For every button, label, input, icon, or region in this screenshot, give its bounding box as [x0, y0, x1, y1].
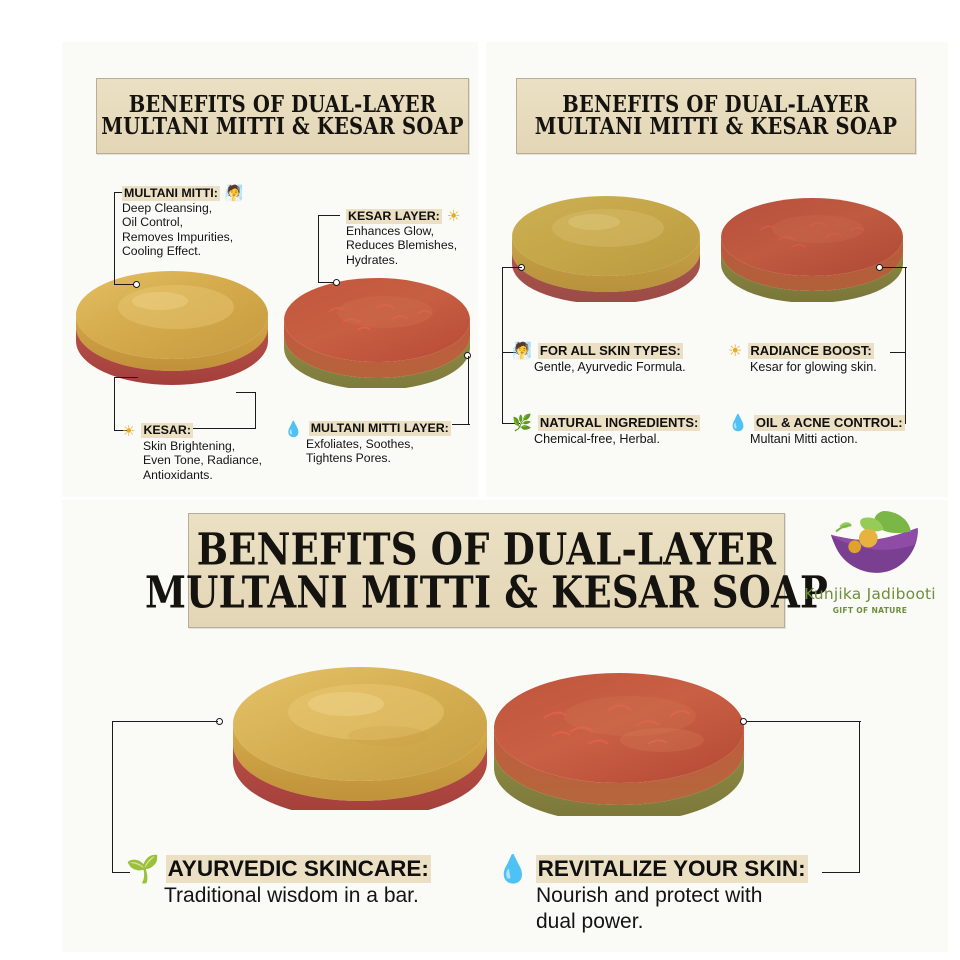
label-radiance-boost-body: Kesar for glowing skin. [750, 360, 928, 376]
label-revitalize-your-skin-body: Nourish and protect with dual power. [536, 883, 856, 935]
label-multani-mitti-heading: MULTANI MITTI: [122, 186, 220, 201]
label-ayurvedic-skincare-body: Traditional wisdom in a bar. [164, 883, 476, 909]
label-for-all-skin-types-heading: FOR ALL SKIN TYPES: [538, 343, 683, 359]
connector-multani-mitti-down [114, 219, 115, 285]
connector-dot-kesar-layer [333, 279, 340, 286]
label-multani-mitti: MULTANI MITTI: 🧖 Deep Cleansing, Oil Con… [122, 186, 312, 259]
connector-bottom-right-h [747, 721, 861, 722]
brand-name: Kunjika Jadibooti [790, 585, 950, 603]
water-droplets-icon: 💧 [496, 856, 530, 883]
connector-tr-left-h [502, 267, 522, 268]
sun-icon: ☀ [447, 209, 460, 224]
hand-sprout-icon: 🌱 [126, 856, 160, 883]
water-droplets-icon: 💧 [284, 422, 303, 437]
label-oil-acne-control-body: Multani Mitti action. [750, 432, 938, 448]
soap-top-right-red [718, 192, 906, 302]
label-radiance-boost-heading: RADIANCE BOOST: [748, 343, 873, 359]
connector-kesar-layer-h [318, 215, 340, 216]
label-kesar-heading: KESAR: [141, 423, 193, 438]
label-multani-mitti-layer-heading: MULTANI MITTI LAYER: [309, 421, 451, 436]
face-mask-icon: 🧖 [225, 186, 244, 201]
banner-tr-line-2: MULTANI MITTI & KESAR SOAP [535, 114, 897, 140]
label-ayurvedic-skincare: 🌱 AYURVEDIC SKINCARE: Traditional wisdom… [126, 855, 476, 909]
soap-top-left-red [281, 272, 473, 388]
connector-tr-right-h [883, 267, 907, 268]
herb-leaf-icon: 🌿 [512, 416, 532, 432]
connector-bottom-right-v [859, 721, 860, 873]
brand-tagline: GIFT OF NATURE [790, 606, 950, 615]
banner-top-left: BENEFITS OF DUAL-LAYER MULTANI MITTI & K… [96, 78, 469, 154]
bowl-with-leaves-logo [802, 505, 938, 585]
label-natural-ingredients: 🌿 NATURAL INGREDIENTS: Chemical-free, He… [512, 415, 722, 448]
soap-top-right-yellow [508, 190, 704, 302]
face-icon: 🧖 [512, 344, 532, 360]
brand-logo: Kunjika Jadibooti GIFT OF NATURE [790, 505, 950, 615]
label-multani-mitti-body: Deep Cleansing, Oil Control, Removes Imp… [122, 201, 312, 259]
soap-bottom-yellow [228, 658, 492, 810]
label-multani-mitti-layer: 💧 MULTANI MITTI LAYER: Exfoliates, Sooth… [284, 421, 484, 466]
sun-icon: ☀ [728, 344, 742, 360]
infographic-canvas: BENEFITS OF DUAL-LAYER MULTANI MITTI & K… [0, 0, 960, 960]
sun-icon: ☀ [122, 424, 135, 439]
label-for-all-skin-types: 🧖 FOR ALL SKIN TYPES: Gentle, Ayurvedic … [512, 343, 712, 376]
connector-multani-mitti-v [114, 192, 115, 219]
banner-top-right: BENEFITS OF DUAL-LAYER MULTANI MITTI & K… [516, 78, 916, 154]
label-kesar-layer-heading: KESAR LAYER: [346, 209, 442, 224]
connector-dot-tr-right [876, 264, 883, 271]
connector-dot-multani-mitti [133, 281, 140, 288]
label-revitalize-your-skin-heading: REVITALIZE YOUR SKIN: [536, 855, 808, 883]
connector-mm-layer-rv [468, 356, 469, 425]
connector-bottom-left-h [112, 721, 218, 722]
banner-bottom: BENEFITS OF DUAL-LAYER MULTANI MITTI & K… [188, 513, 785, 628]
banner-line-2: MULTANI MITTI & KESAR SOAP [101, 114, 463, 140]
droplet-on-skin-icon: 💧 [728, 416, 748, 432]
soap-top-left-yellow [72, 263, 272, 385]
label-revitalize-your-skin: 💧 REVITALIZE YOUR SKIN: Nourish and prot… [496, 855, 856, 935]
soap-bottom-red [490, 666, 748, 816]
connector-kesar-v [114, 377, 115, 430]
label-oil-acne-control: 💧 OIL & ACNE CONTROL: Multani Mitti acti… [728, 415, 938, 448]
connector-tr-left-v [502, 267, 503, 424]
label-radiance-boost: ☀ RADIANCE BOOST: Kesar for glowing skin… [728, 343, 928, 376]
connector-kesar-top [114, 377, 138, 378]
label-kesar-layer: KESAR LAYER: ☀ Enhances Glow, Reduces Bl… [346, 209, 526, 267]
label-for-all-skin-types-body: Gentle, Ayurvedic Formula. [534, 360, 712, 376]
label-kesar-layer-body: Enhances Glow, Reduces Blemishes, Hydrat… [346, 224, 526, 267]
label-natural-ingredients-body: Chemical-free, Herbal. [534, 432, 722, 448]
label-natural-ingredients-heading: NATURAL INGREDIENTS: [538, 415, 700, 431]
banner-b-line-2: MULTANI MITTI & KESAR SOAP [145, 567, 828, 617]
connector-bottom-left-v [112, 721, 113, 873]
connector-dot-bottom-right [740, 718, 747, 725]
label-ayurvedic-skincare-heading: AYURVEDIC SKINCARE: [166, 855, 431, 883]
connector-mm-layer-h2 [236, 392, 256, 393]
connector-kesar-layer-v [318, 215, 319, 283]
label-multani-mitti-layer-body: Exfoliates, Soothes, Tightens Pores. [306, 437, 484, 466]
label-oil-acne-control-heading: OIL & ACNE CONTROL: [754, 415, 905, 431]
